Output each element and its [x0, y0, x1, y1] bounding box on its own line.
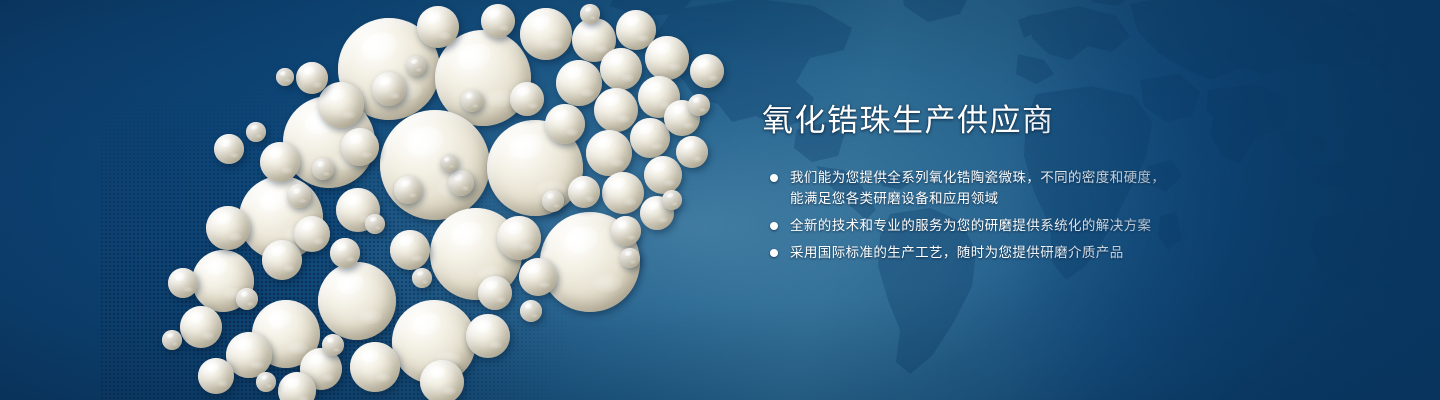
- right-edge-fade: [1008, 0, 1440, 400]
- hero-banner: 氧化锆珠生产供应商 我们能为您提供全系列氧化锆陶瓷微珠，不同的密度和硬度， 能满…: [0, 0, 1440, 400]
- bullet-dot-icon: [770, 249, 778, 257]
- bullet-dot-icon: [770, 222, 778, 230]
- bullet-dot-icon: [770, 174, 778, 182]
